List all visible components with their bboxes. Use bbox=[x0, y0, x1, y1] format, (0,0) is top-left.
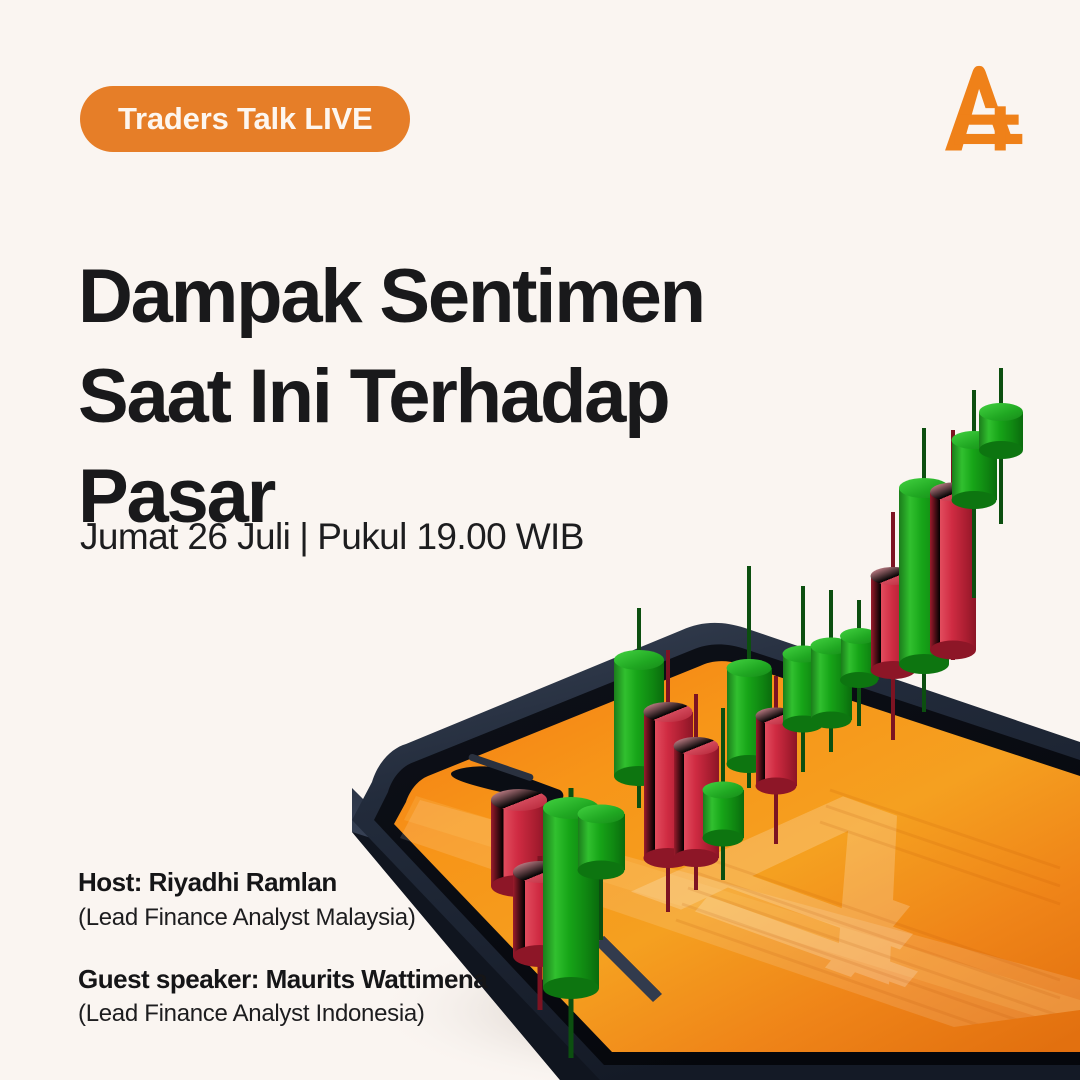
speaker-host-name: Host: Riyadhi Ramlan bbox=[78, 866, 598, 899]
live-badge: Traders Talk LIVE bbox=[80, 86, 410, 152]
datetime-separator: | bbox=[299, 516, 308, 558]
headline-line-1: Dampak Sentimen bbox=[78, 247, 818, 347]
event-datetime: Jumat 26 Juli|Pukul 19.00 WIB bbox=[80, 516, 584, 558]
speakers-list: Host: Riyadhi Ramlan (Lead Finance Analy… bbox=[78, 866, 598, 1029]
event-date: Jumat 26 Juli bbox=[80, 516, 290, 557]
page-title: Dampak Sentimen Saat Ini Terhadap Pasar bbox=[78, 247, 818, 547]
speaker-host: Host: Riyadhi Ramlan (Lead Finance Analy… bbox=[78, 866, 598, 933]
speaker-guest-name: Guest speaker: Maurits Wattimena bbox=[78, 963, 598, 996]
promo-poster: Traders Talk LIVE Dampak Sentimen Saat I… bbox=[0, 0, 1080, 1080]
speaker-guest-role: (Lead Finance Analyst Indonesia) bbox=[78, 998, 598, 1029]
live-badge-label: Traders Talk LIVE bbox=[118, 101, 372, 137]
octa-a-logo-icon bbox=[934, 62, 1026, 158]
event-time: Pukul 19.00 WIB bbox=[317, 516, 584, 557]
poster-content: Traders Talk LIVE Dampak Sentimen Saat I… bbox=[0, 0, 1080, 1080]
speaker-guest: Guest speaker: Maurits Wattimena (Lead F… bbox=[78, 963, 598, 1030]
speaker-host-role: (Lead Finance Analyst Malaysia) bbox=[78, 902, 598, 933]
headline-line-2: Saat Ini Terhadap bbox=[78, 347, 818, 447]
